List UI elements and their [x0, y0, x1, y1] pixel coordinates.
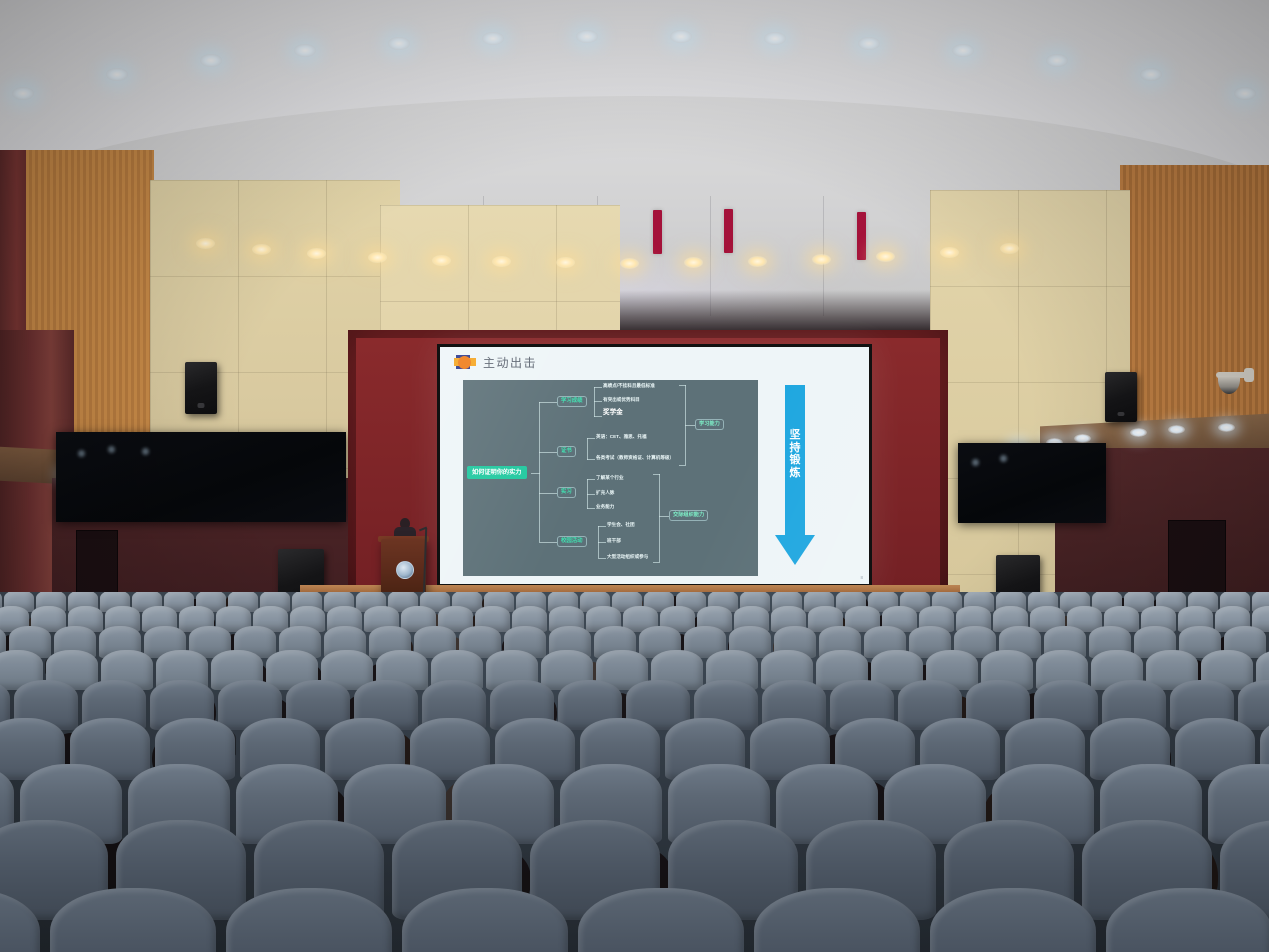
arrow-char: 炼: [775, 467, 815, 480]
mindmap-leaf: 班干部: [607, 538, 621, 544]
ceiling-downlight: [952, 44, 974, 57]
ceiling-downlight: [1046, 54, 1068, 67]
ceiling-downlight: [294, 44, 316, 57]
arrow-label: 坚 持 锻 炼: [775, 429, 815, 479]
auditorium-seat[interactable]: [1238, 680, 1269, 730]
arrow-char: 坚: [775, 429, 815, 442]
mindmap-branch-node: 校园活动: [557, 536, 587, 547]
orange-circle-logo-icon: [454, 355, 476, 370]
mindmap-leaf: 大型活动组织或参与: [607, 554, 648, 560]
wall-speaker-left: [185, 362, 217, 414]
ceiling-accent-stripe: [857, 212, 866, 260]
persistence-arrow: 坚 持 锻 炼: [775, 385, 815, 575]
mindmap-branch-node: 证书: [557, 446, 576, 457]
projected-slide: 主动出击 如何证明你的实力 学习成绩 高绩点/不挂科且最低标准 有突出或优势科目…: [440, 347, 869, 584]
arrow-char: 锻: [775, 454, 815, 467]
mindmap-leaf: 了解某个行业: [596, 475, 624, 481]
ceiling-downlight: [858, 37, 880, 50]
ceiling-downlight: [1140, 68, 1162, 81]
ceiling-accent-stripe: [724, 209, 733, 253]
mindmap-canvas: 如何证明你的实力 学习成绩 高绩点/不挂科且最低标准 有突出或优势科目 奖学金 …: [463, 380, 758, 576]
slide-page-number: 8: [860, 575, 863, 580]
mindmap-leaf: 各类考试（教师资格证、计算机等级）: [596, 455, 674, 461]
university-seal-emblem-icon: [396, 561, 414, 579]
mindmap-summary-node: 交际组织能力: [669, 510, 708, 521]
mindmap-leaf: 业务能力: [596, 504, 614, 510]
auditorium-photo-scene: 主动出击 如何证明你的实力 学习成绩 高绩点/不挂科且最低标准 有突出或优势科目…: [0, 0, 1269, 952]
ceiling-downlight: [388, 37, 410, 50]
arrow-char: 持: [775, 442, 815, 455]
mindmap-leaf-emphasis: 奖学金: [603, 410, 623, 416]
camera-mount-plate: [1244, 368, 1254, 382]
projection-screen-frame: 主动出击 如何证明你的实力 学习成绩 高绩点/不挂科且最低标准 有突出或优势科目…: [437, 344, 872, 587]
ceiling-downlight: [106, 68, 128, 81]
ceiling-downlight: [200, 54, 222, 67]
arrow-down-icon: [775, 535, 815, 565]
slide-title: 主动出击: [483, 354, 537, 371]
audience-seating-area: [0, 592, 1269, 952]
mindmap-leaf: 学生会、社团: [607, 522, 635, 528]
mindmap-root-node: 如何证明你的实力: [467, 466, 527, 479]
wall-speaker-right: [1105, 372, 1137, 422]
mindmap-leaf: 英语：CET、雅思、托福: [596, 434, 647, 440]
mindmap-branch-node: 学习成绩: [557, 396, 587, 407]
mindmap-leaf: 高绩点/不挂科且最低标准: [603, 383, 655, 389]
ceiling-accent-stripe: [653, 210, 662, 254]
wall-right-wood-panel: [1120, 165, 1269, 425]
slide-header: 主动出击: [440, 347, 869, 377]
mindmap-leaf: 有突出或优势科目: [603, 397, 640, 403]
display-panel-right: [958, 443, 1106, 523]
mindmap-summary-node: 学习能力: [695, 419, 724, 430]
mindmap-leaf: 扩充人脉: [596, 490, 614, 496]
mindmap-branch-node: 实习: [557, 487, 576, 498]
display-panel-left: [56, 432, 346, 522]
